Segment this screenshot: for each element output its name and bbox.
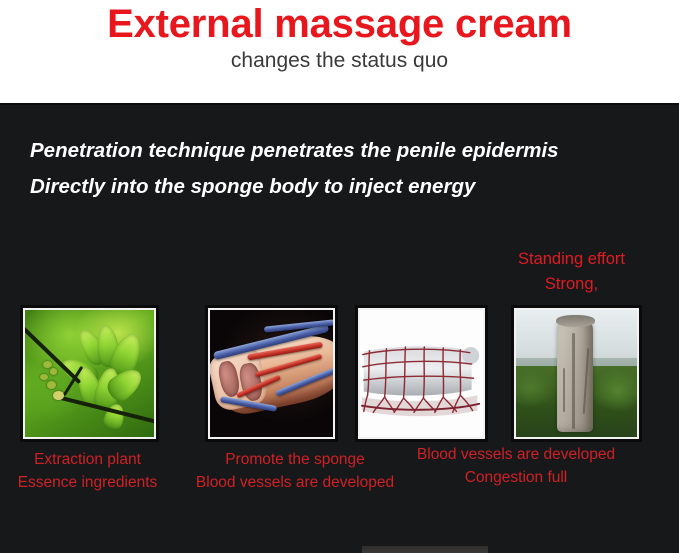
- panel-standing-strong: [511, 305, 642, 442]
- caption-sponge-body: Promote the sponge Blood vessels are dev…: [175, 448, 415, 494]
- photo-frame: [514, 308, 639, 439]
- caption-line-2: Congestion full: [392, 466, 640, 489]
- flower-bud: [53, 391, 63, 400]
- flower-bud: [47, 381, 56, 389]
- caption-blood-vessels: Blood vessels are developed Congestion f…: [392, 443, 640, 489]
- vessel-network-diagram: [360, 310, 483, 437]
- flower-bud: [40, 374, 48, 380]
- standing-effort-line-2: Strong,: [484, 272, 659, 297]
- caption-line-1: Extraction plant: [0, 448, 175, 471]
- pillar-crack: [572, 333, 575, 430]
- bottom-cutoff-strip: [362, 546, 488, 553]
- caption-line-1: Promote the sponge: [175, 448, 415, 471]
- page-subtitle: changes the status quo: [0, 47, 679, 75]
- flower-bud: [50, 368, 58, 374]
- vessel-network-svg: [360, 310, 483, 437]
- standing-effort-headline: Standing effort Strong,: [484, 247, 659, 297]
- panel-blood-vessels: [355, 305, 488, 442]
- caption-line-2: Essence ingredients: [0, 471, 175, 494]
- product-infographic: External massage cream changes the statu…: [0, 0, 679, 553]
- panel-extraction-plant: [20, 305, 159, 442]
- standing-effort-line-1: Standing effort: [484, 247, 659, 272]
- photo-frame: [208, 308, 335, 439]
- lede-line-2: Directly into the sponge body to inject …: [30, 174, 650, 200]
- glans: [462, 347, 479, 364]
- dark-content-area: Penetration technique penetrates the pen…: [0, 105, 679, 553]
- photo-frame: [23, 308, 156, 439]
- pillar-crack: [563, 368, 565, 411]
- caption-extraction-plant: Extraction plant Essence ingredients: [0, 448, 175, 494]
- green-chestnut-leaves-photo: [25, 310, 154, 437]
- caption-line-1: Blood vessels are developed: [392, 443, 640, 466]
- shaft-silhouette: [364, 346, 472, 395]
- lede-line-1: Penetration technique penetrates the pen…: [30, 138, 650, 164]
- header-banner: External massage cream changes the statu…: [0, 0, 679, 105]
- page-title: External massage cream: [0, 1, 679, 47]
- panel-sponge-body: [205, 305, 338, 442]
- caption-line-2: Blood vessels are developed: [175, 471, 415, 494]
- anatomical-cross-section-illustration: [210, 310, 333, 437]
- pillar-cap-rock: [556, 315, 595, 326]
- lower-tissue-band: [362, 395, 477, 416]
- stone-pillar-landscape-photo: [516, 310, 637, 437]
- photo-frame: [358, 308, 485, 439]
